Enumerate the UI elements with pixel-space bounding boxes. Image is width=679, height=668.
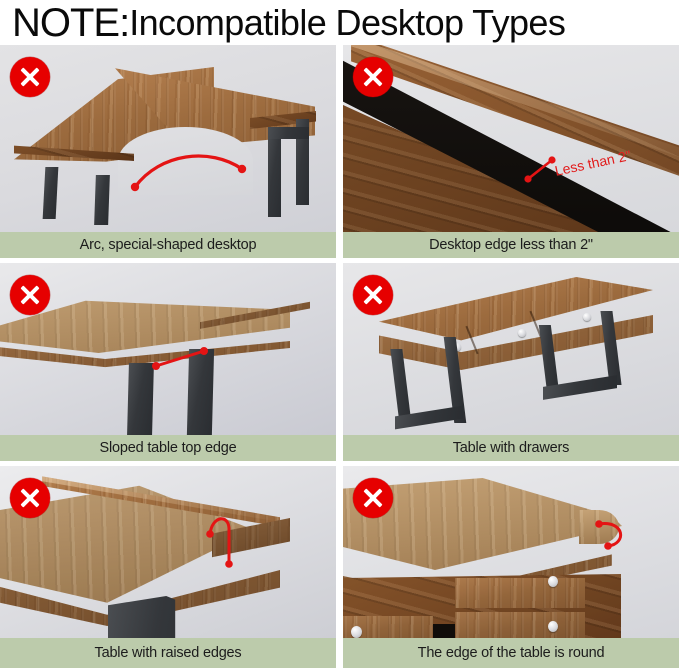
raised-edges-photo [0,466,336,638]
caption-table-drawers: Table with drawers [343,435,679,461]
incompatible-types-grid: Less than 2" Arc, special-shaped desktop… [0,45,679,668]
page-title-rest: Incompatible Desktop Types [129,3,565,43]
round-edge-photo [343,466,679,638]
table-drawers-photo [343,263,679,435]
caption-arc-desktop: Arc, special-shaped desktop [0,232,336,258]
x-mark-icon [10,478,50,518]
caption-round-edge: The edge of the table is round [343,638,679,668]
column-gutter [336,466,343,638]
slope-annotation [0,263,336,435]
incompatible-desktop-types-poster: NOTE:Incompatible Desktop Types [0,0,679,668]
page-title: NOTE:Incompatible Desktop Types [0,0,679,45]
thin-edge-photo: Less than 2" [343,45,679,232]
caption-sloped-edge: Sloped table top edge [0,435,336,461]
x-mark-icon [10,275,50,315]
drawer-knob [518,329,526,337]
arc-desk-photo [0,45,336,232]
cell-raised-edges [0,466,336,638]
column-gutter [336,263,343,435]
column-gutter [336,638,343,668]
drawer-knob [583,313,591,321]
column-gutter [336,435,343,461]
x-mark-icon [10,57,50,97]
cell-round-edge [343,466,679,638]
sloped-edge-photo [0,263,336,435]
cell-arc-desktop [0,45,336,232]
column-gutter [336,45,343,232]
caption-thin-edge: Desktop edge less than 2" [343,232,679,258]
raised-edge-annotation [0,466,336,638]
arc-annotation [0,45,336,232]
x-mark-icon [353,57,393,97]
caption-raised-edges: Table with raised edges [0,638,336,668]
cell-thin-edge: Less than 2" [343,45,679,232]
cell-sloped-edge [0,263,336,435]
round-edge-annotation [343,466,679,638]
measure-annotation [343,45,679,232]
x-mark-icon [353,478,393,518]
x-mark-icon [353,275,393,315]
page-title-prefix: NOTE: [12,3,129,43]
cell-table-drawers [343,263,679,435]
column-gutter [336,232,343,258]
